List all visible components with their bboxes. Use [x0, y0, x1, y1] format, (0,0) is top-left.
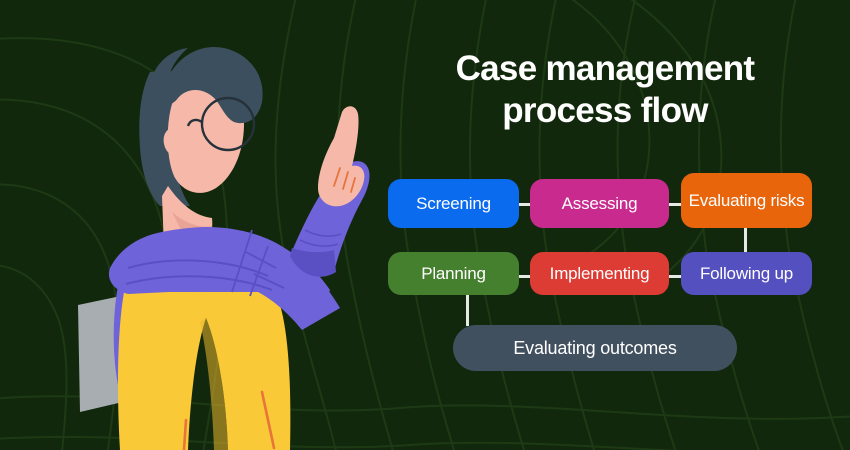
flow-node-evaluating-risks[interactable]: Evaluating risks — [681, 173, 812, 228]
connector-implementing-following-up — [668, 275, 681, 278]
process-flow-diagram: Screening Assessing Evaluating risks Pla… — [0, 0, 850, 450]
flow-node-following-up[interactable]: Following up — [681, 252, 812, 295]
infographic-canvas: Case management process flow Screening A… — [0, 0, 850, 450]
flow-node-evaluating-outcomes[interactable]: Evaluating outcomes — [453, 325, 737, 371]
flow-node-screening[interactable]: Screening — [388, 179, 519, 228]
flow-node-implementing[interactable]: Implementing — [530, 252, 669, 295]
flow-node-planning[interactable]: Planning — [388, 252, 519, 295]
connector-assessing-evaluating-risks — [668, 203, 681, 206]
connector-planning-evaluating-outcomes — [466, 294, 469, 326]
flow-node-assessing[interactable]: Assessing — [530, 179, 669, 228]
